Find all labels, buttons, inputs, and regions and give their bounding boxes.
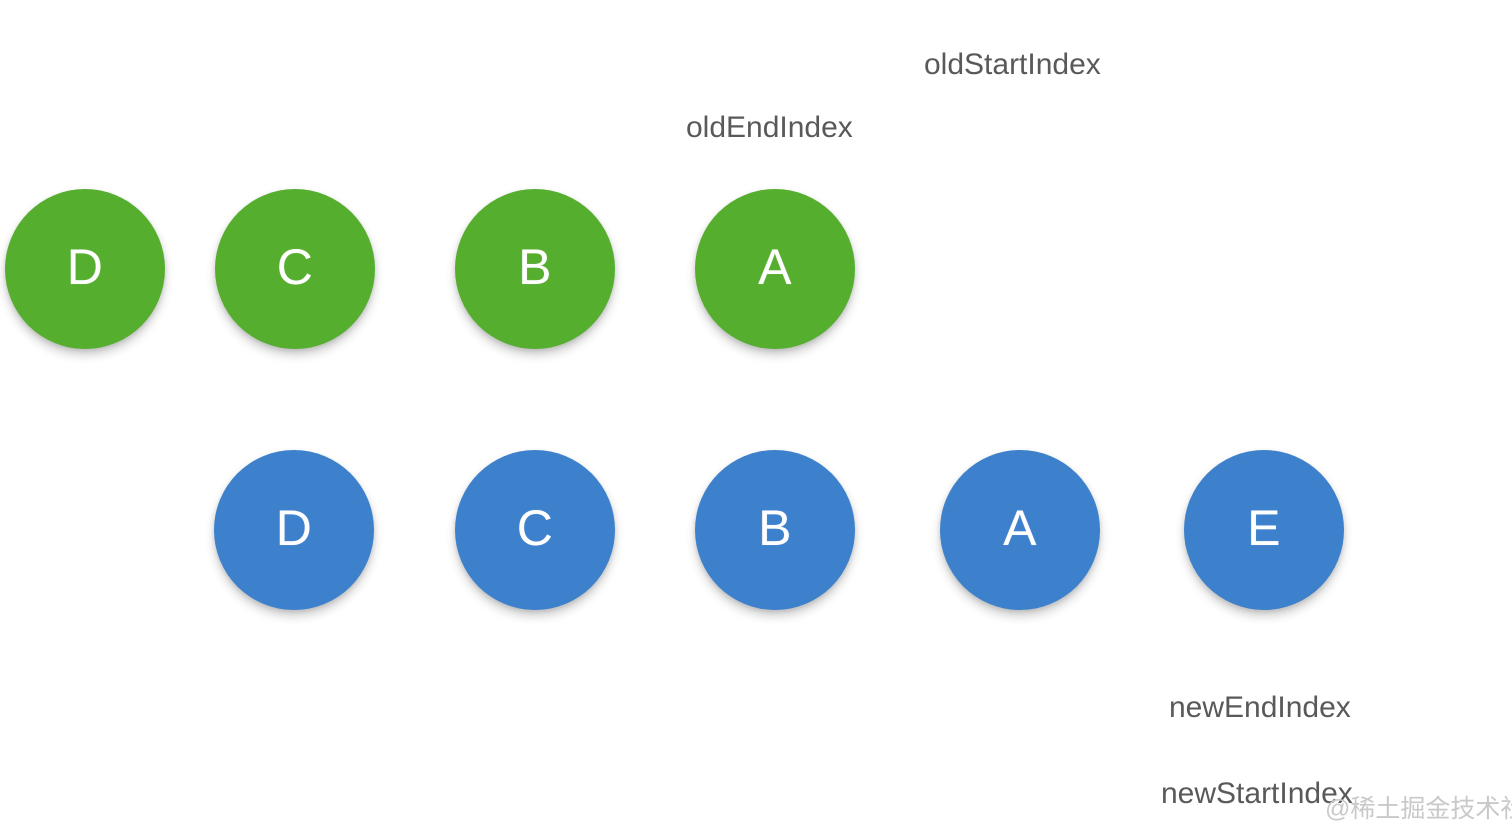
watermark: @稀土掘金技术社区	[1325, 797, 1512, 822]
new-start-index-label: newStartIndex	[1161, 777, 1353, 810]
new-node-c-label: C	[517, 503, 554, 553]
new-node-d-label: D	[276, 503, 313, 553]
old-node-d-label: D	[67, 242, 104, 292]
old-end-index-label: oldEndIndex	[686, 111, 853, 144]
old-node-d[interactable]: D	[5, 189, 165, 349]
new-node-c[interactable]: C	[455, 450, 615, 610]
old-node-b[interactable]: B	[455, 189, 615, 349]
old-node-a-label: A	[758, 242, 792, 292]
diagram-canvas: D C B A D C B A E oldStartIndex oldEndIn…	[0, 0, 1512, 837]
new-node-e[interactable]: E	[1184, 450, 1344, 610]
new-node-a-label: A	[1003, 503, 1037, 553]
old-start-index-label: oldStartIndex	[924, 48, 1101, 81]
new-node-e-label: E	[1247, 503, 1281, 553]
old-node-b-label: B	[518, 242, 552, 292]
old-node-c[interactable]: C	[215, 189, 375, 349]
old-node-a[interactable]: A	[695, 189, 855, 349]
new-node-b[interactable]: B	[695, 450, 855, 610]
new-node-b-label: B	[758, 503, 792, 553]
new-node-a[interactable]: A	[940, 450, 1100, 610]
old-node-c-label: C	[277, 242, 314, 292]
new-node-d[interactable]: D	[214, 450, 374, 610]
new-end-index-label: newEndIndex	[1169, 691, 1351, 724]
